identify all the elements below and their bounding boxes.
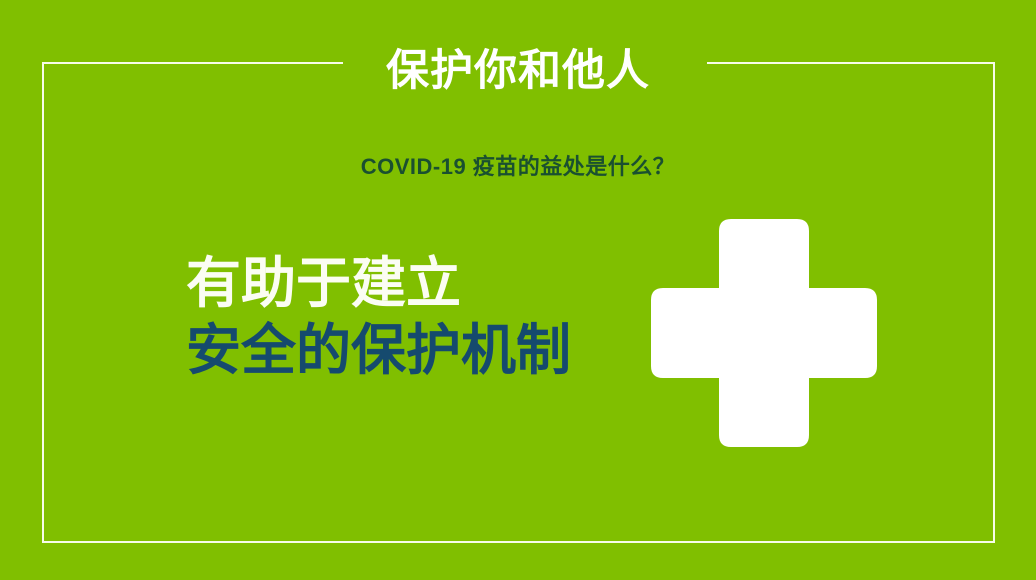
- frame-right-segment: [993, 62, 995, 543]
- slide-subtitle-question: COVID-19 疫苗的益处是什么？: [0, 152, 1036, 182]
- frame-bottom-segment: [42, 541, 995, 543]
- main-statement: 有助于建立 安全的保护机制: [186, 250, 656, 384]
- statement-line-1: 有助于建立: [186, 250, 656, 317]
- statement-line-2: 安全的保护机制: [186, 317, 656, 384]
- slide-canvas: 保护你和他人 COVID-19 疫苗的益处是什么？ 有助于建立 安全的保护机制: [0, 0, 1036, 580]
- medical-cross-icon: [651, 219, 877, 447]
- slide-title: 保护你和他人: [0, 43, 1036, 99]
- frame-left-segment: [42, 62, 44, 543]
